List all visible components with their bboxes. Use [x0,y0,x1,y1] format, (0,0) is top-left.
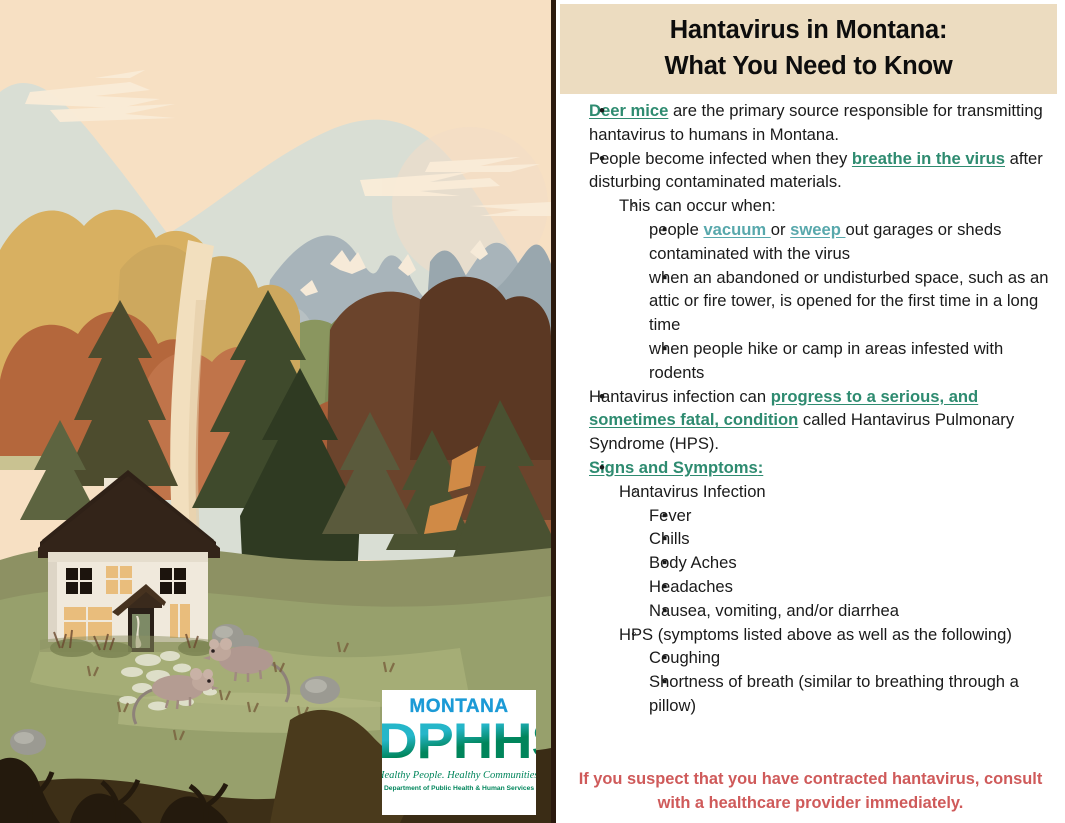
infection-pre: People become infected when they [589,149,852,168]
symptom-chills: Chills [649,527,1059,551]
symptom-item: Body Aches [619,551,1059,575]
logo-department-name: Department of Public Health & Human Serv… [384,785,534,792]
occurrence-item-abandoned-space-text: when an abandoned or undisturbed space, … [649,266,1059,337]
content-panel: Hantavirus in Montana: What You Need to … [556,0,1065,823]
subbullet-this-can-occur: This can occur when: people vacuum or sw… [589,194,1059,384]
occurrence-sublist: This can occur when: people vacuum or sw… [589,194,1059,384]
bullet-infection-route: People become infected when they breathe… [562,147,1059,385]
symptom-fever: Fever [649,504,1059,528]
symptom-item: Coughing [619,646,1059,670]
occurrence-item-abandoned-space: when an abandoned or undisturbed space, … [619,266,1059,337]
hantavirus-symptom-items: Fever Chills Body Aches Headaches Nausea… [619,504,1059,623]
symptom-nausea: Nausea, vomiting, and/or diarrhea [649,599,1059,623]
deer-mice-link[interactable]: Deer mice [589,101,668,120]
logo-acronym-wrap: DPHHS [386,715,532,767]
logo-acronym: DPHHS [382,715,536,767]
warning-message: If you suspect that you have contracted … [562,767,1059,815]
subbullet-hantavirus-infection: Hantavirus Infection Fever Chills Body A… [589,480,1059,623]
symptom-body-aches: Body Aches [649,551,1059,575]
signs-symptoms-colon: : [758,458,764,477]
bullet-signs-symptoms: Signs and Symptoms: Hantavirus Infection… [562,456,1059,718]
bullet-progression-text: Hantavirus infection can progress to a s… [589,385,1059,456]
symptom-item: Headaches [619,575,1059,599]
title-line-2: What You Need to Know [570,48,1047,84]
title-banner: Hantavirus in Montana: What You Need to … [560,4,1057,94]
symptom-shortness-of-breath: Shortness of breath (similar to breathin… [649,670,1059,718]
vacuum-pre: people [649,220,703,239]
bullet-deer-mice: Deer mice are the primary source respons… [562,99,1059,147]
illustration-panel: MONTANA DPHHS Healthy People. Healthy Co… [0,0,556,823]
occurrence-item-vacuum-sweep-text: people vacuum or sweep out garages or sh… [649,218,1059,266]
subbullet-hps: HPS (symptoms listed above as well as th… [589,623,1059,718]
symptom-item: Fever [619,504,1059,528]
occurrence-item-hike-camp-text: when people hike or camp in areas infest… [649,337,1059,385]
hantavirus-infection-label: Hantavirus Infection [619,480,1059,504]
occurrence-items: people vacuum or sweep out garages or sh… [619,218,1059,385]
vacuum-link[interactable]: vacuum [703,220,770,239]
progression-pre: Hantavirus infection can [589,387,771,406]
symptom-item: Chills [619,527,1059,551]
body-content: Deer mice are the primary source respons… [556,94,1065,718]
breathe-in-virus-link[interactable]: breathe in the virus [852,149,1005,168]
symptoms-sublist: Hantavirus Infection Fever Chills Body A… [589,480,1059,718]
this-can-occur-text: This can occur when: [619,194,1059,218]
symptom-item: Nausea, vomiting, and/or diarrhea [619,599,1059,623]
infographic-poster: MONTANA DPHHS Healthy People. Healthy Co… [0,0,1065,823]
sweep-link[interactable]: sweep [790,220,845,239]
main-bullet-list: Deer mice are the primary source respons… [562,99,1059,718]
vacuum-mid: or [771,220,790,239]
hps-label: HPS (symptoms listed above as well as th… [619,623,1059,647]
dphhs-logo: MONTANA DPHHS Healthy People. Healthy Co… [382,690,536,815]
hps-symptom-items: Coughing Shortness of breath (similar to… [619,646,1059,717]
symptom-headaches: Headaches [649,575,1059,599]
title-line-1: Hantavirus in Montana: [570,12,1047,48]
symptom-item: Shortness of breath (similar to breathin… [619,670,1059,718]
logo-tagline: Healthy People. Healthy Communities. [382,770,536,781]
bullet-deer-mice-text: Deer mice are the primary source respons… [589,99,1059,147]
occurrence-item-hike-camp: when people hike or camp in areas infest… [619,337,1059,385]
bullet-infection-route-text: People become infected when they breathe… [589,147,1059,195]
bullet-progression: Hantavirus infection can progress to a s… [562,385,1059,456]
symptom-coughing: Coughing [649,646,1059,670]
signs-symptoms-link[interactable]: Signs and Symptoms [589,458,758,477]
bullet-signs-symptoms-text: Signs and Symptoms: [589,456,1059,480]
occurrence-item-vacuum-sweep: people vacuum or sweep out garages or sh… [619,218,1059,266]
